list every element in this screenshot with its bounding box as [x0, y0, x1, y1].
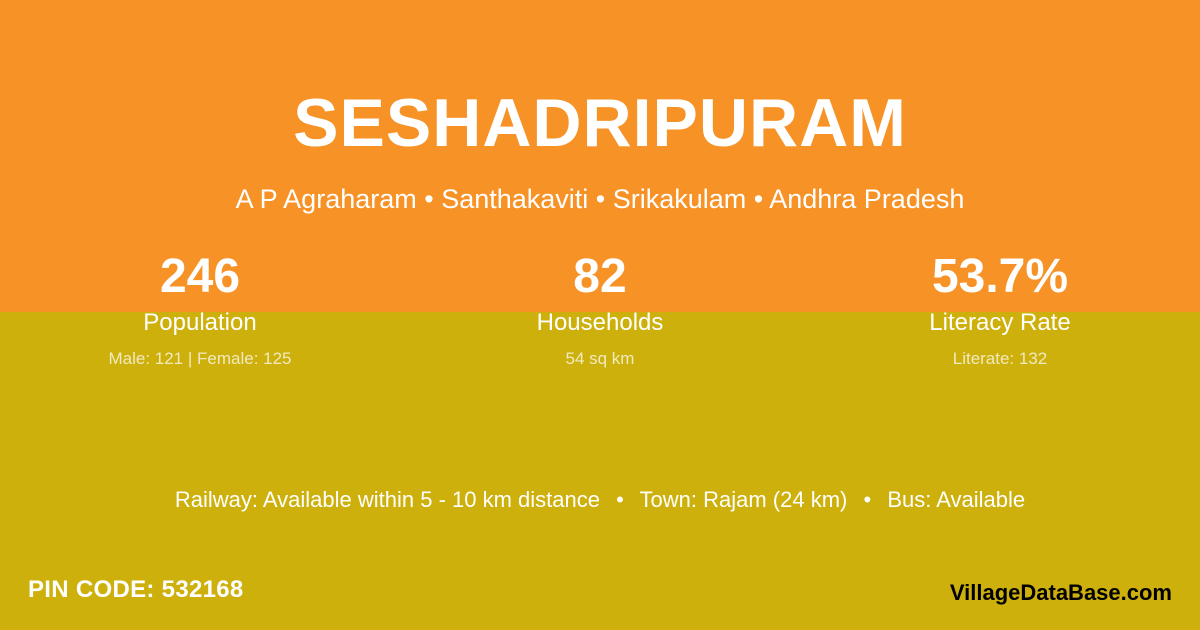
- facility-separator: •: [606, 487, 634, 512]
- facility-separator: •: [854, 487, 882, 512]
- facility-town: Town: Rajam (24 km): [640, 487, 848, 512]
- stat-value: 246: [0, 248, 400, 306]
- stat-sublabel: Male: 121 | Female: 125: [0, 347, 400, 371]
- stat-population: 246 Population Male: 121 | Female: 125: [0, 248, 400, 371]
- page-title: SESHADRIPURAM: [0, 82, 1200, 164]
- brand-watermark: VillageDataBase.com: [950, 578, 1172, 608]
- facility-bus: Bus: Available: [887, 487, 1025, 512]
- village-info-card: SESHADRIPURAM A P Agraharam • Santhakavi…: [0, 0, 1200, 630]
- stats-row: 246 Population Male: 121 | Female: 125 8…: [0, 248, 1200, 371]
- stat-label: Households: [400, 307, 800, 339]
- facilities-row: Railway: Available within 5 - 10 km dist…: [0, 484, 1200, 516]
- stat-value: 82: [400, 248, 800, 306]
- location-breadcrumb: A P Agraharam • Santhakaviti • Srikakula…: [0, 181, 1200, 217]
- stat-sublabel: Literate: 132: [800, 347, 1200, 371]
- stat-value: 53.7%: [800, 248, 1200, 306]
- stat-households: 82 Households 54 sq km: [400, 248, 800, 371]
- stat-sublabel: 54 sq km: [400, 347, 800, 371]
- pin-code: PIN CODE: 532168: [28, 574, 244, 606]
- stat-label: Literacy Rate: [800, 307, 1200, 339]
- facility-railway: Railway: Available within 5 - 10 km dist…: [175, 487, 600, 512]
- stat-literacy-rate: 53.7% Literacy Rate Literate: 132: [800, 248, 1200, 371]
- stat-label: Population: [0, 307, 400, 339]
